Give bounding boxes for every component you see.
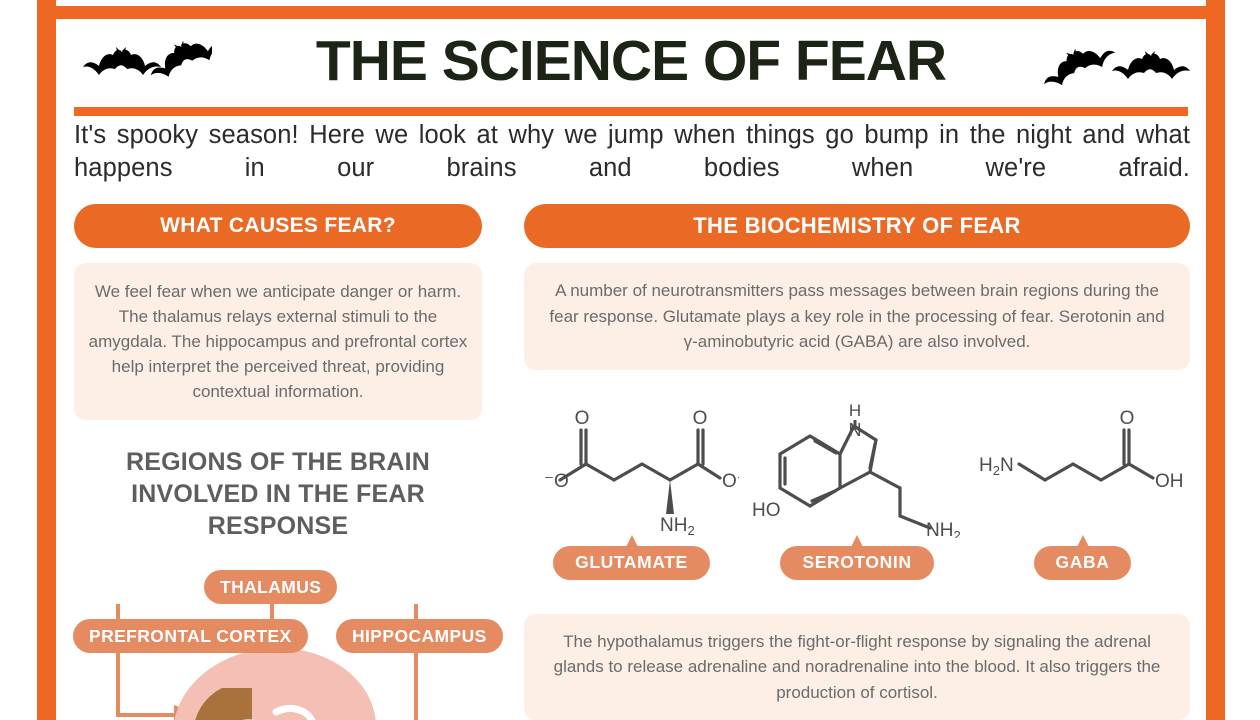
- svg-text:NH2: NH2: [660, 515, 695, 538]
- svg-text:NH2: NH2: [926, 520, 961, 538]
- brain-diagram: THALAMUS PREFRONTAL CORTEX HIPPOCAMPUS: [74, 556, 482, 720]
- molecule-structures-row: O O ⁻O O⁻ NH2: [524, 388, 1190, 538]
- what-causes-fear-body: We feel fear when we anticipate danger o…: [74, 263, 482, 420]
- pill-gaba[interactable]: GABA: [1034, 546, 1132, 580]
- frame-border-right: [1206, 0, 1225, 720]
- svg-text:H2N: H2N: [979, 455, 1014, 478]
- tag-hippocampus[interactable]: HIPPOCAMPUS: [336, 619, 503, 653]
- right-column: THE BIOCHEMISTRY OF FEAR A number of neu…: [524, 204, 1190, 720]
- frame-border-top: [37, 6, 1225, 19]
- svg-text:O⁻: O⁻: [722, 471, 739, 492]
- svg-text:⁻O: ⁻O: [544, 471, 569, 492]
- section-header-what-causes-fear: WHAT CAUSES FEAR?: [74, 204, 482, 248]
- molecule-gaba-structure: H2N O OH: [975, 388, 1190, 538]
- frame-border-left: [37, 0, 56, 720]
- pill-glutamate[interactable]: GLUTAMATE: [553, 546, 710, 580]
- brain-illustration: [160, 644, 396, 720]
- brain-regions-subheading: REGIONS OF THE BRAIN INVOLVED IN THE FEA…: [74, 446, 482, 542]
- pill-serotonin[interactable]: SEROTONIN: [780, 546, 933, 580]
- left-column: WHAT CAUSES FEAR? We feel fear when we a…: [74, 204, 482, 720]
- infographic-page: THE SCIENCE OF FEAR: [0, 0, 1260, 720]
- molecule-label-wrap: GABA: [975, 546, 1190, 592]
- title-divider-rule: [74, 107, 1188, 116]
- biochemistry-body: A number of neurotransmitters pass messa…: [524, 263, 1190, 370]
- svg-text:OH: OH: [1155, 471, 1184, 492]
- bat-icon: [82, 41, 212, 93]
- section-header-biochemistry-of-fear: THE BIOCHEMISTRY OF FEAR: [524, 204, 1190, 248]
- svg-text:HO: HO: [752, 500, 781, 521]
- masthead: THE SCIENCE OF FEAR: [56, 19, 1206, 103]
- page-content: THE SCIENCE OF FEAR: [56, 19, 1206, 720]
- hypothalamus-body: The hypothalamus triggers the fight-or-f…: [524, 614, 1190, 720]
- svg-text:N: N: [848, 420, 861, 440]
- molecule-serotonin-structure: H N HO NH2: [750, 388, 965, 538]
- bat-icon: [1042, 41, 1192, 93]
- svg-text:O: O: [1120, 408, 1135, 429]
- svg-text:H: H: [848, 401, 860, 420]
- subtitle-text: It's spooky season! Here we look at why …: [74, 119, 1190, 185]
- molecule-label-wrap: SEROTONIN: [750, 546, 965, 592]
- svg-text:O: O: [693, 408, 708, 429]
- svg-text:O: O: [575, 408, 590, 429]
- tag-thalamus[interactable]: THALAMUS: [204, 570, 337, 604]
- page-title: THE SCIENCE OF FEAR: [316, 28, 946, 94]
- molecule-glutamate-structure: O O ⁻O O⁻ NH2: [524, 388, 739, 538]
- tag-prefrontal-cortex[interactable]: PREFRONTAL CORTEX: [73, 619, 308, 653]
- molecule-label-wrap: GLUTAMATE: [524, 546, 739, 592]
- molecule-labels-row: GLUTAMATE SEROTONIN GABA: [524, 546, 1190, 592]
